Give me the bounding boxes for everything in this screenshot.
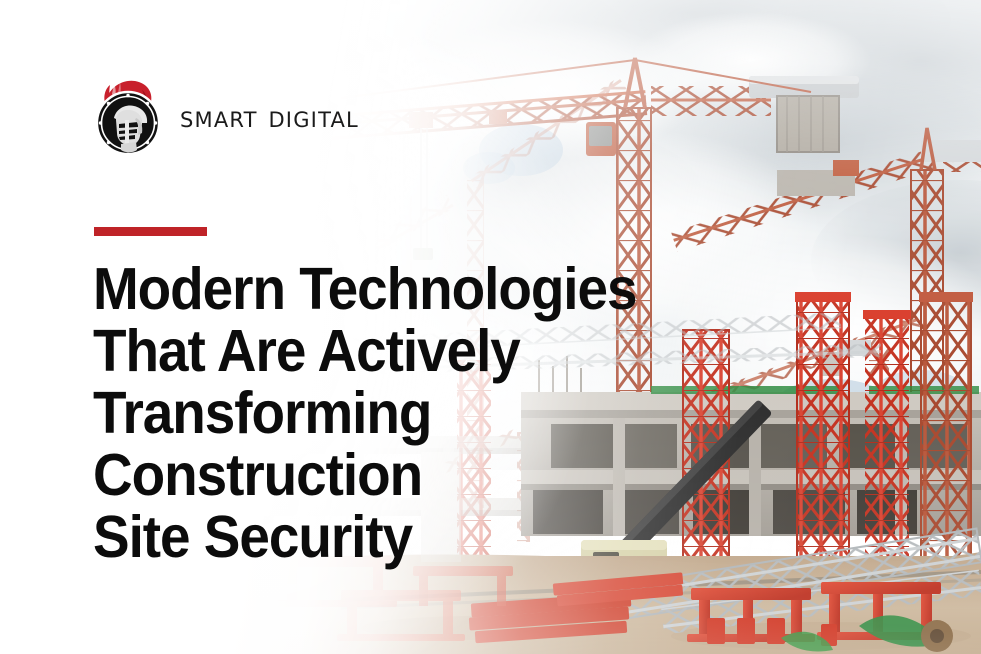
headline-line: Construction [93, 444, 651, 506]
headline-line: Modern Technologies [93, 258, 651, 320]
headline-line: Site Security [93, 506, 651, 568]
accent-bar [94, 227, 207, 236]
headline-line: Transforming [93, 382, 651, 444]
brand-logo[interactable]: Smart Digital [92, 78, 359, 156]
headline-line: That Are Actively [93, 320, 651, 382]
spartan-helmet-icon [92, 78, 166, 156]
page-title: Modern Technologies That Are Actively Tr… [93, 258, 693, 568]
banner: Smart Digital Modern Technologies That A… [0, 0, 981, 654]
brand-name: Smart Digital [180, 101, 359, 133]
